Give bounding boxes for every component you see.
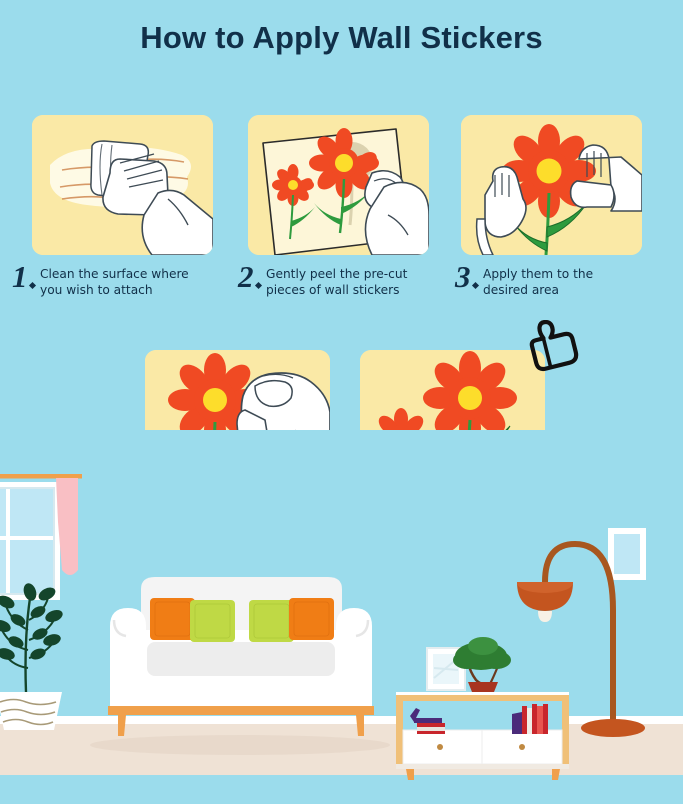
step-bullet-3 [472, 282, 479, 289]
step-panel-3 [461, 115, 642, 255]
step-panel-2 [248, 115, 429, 255]
page-title: How to Apply Wall Stickers [0, 20, 683, 56]
infographic-canvas: How to Apply Wall Stickers 1 [0, 0, 683, 800]
step-text-3: Apply them to the desired area [483, 262, 593, 298]
step-caption-2: 2 Gently peel the pre-cut pieces of wall… [238, 262, 453, 298]
step-caption-3: 3 Apply them to the desired area [455, 262, 670, 298]
step-number-2: 2 [238, 262, 253, 291]
step-number-3: 3 [455, 262, 470, 291]
step-bullet-2 [255, 282, 262, 289]
step-panel-1 [32, 115, 213, 255]
step-bullet-1 [29, 282, 36, 289]
thumbs-up-icon [519, 320, 581, 376]
step-text-1: Clean the surface where you wish to atta… [40, 262, 189, 298]
room-scene [0, 430, 683, 800]
step-number-1: 1 [12, 262, 27, 291]
step-caption-1: 1 Clean the surface where you wish to at… [12, 262, 227, 298]
wall-picture-frame [608, 528, 646, 580]
step-text-2: Gently peel the pre-cut pieces of wall s… [266, 262, 407, 298]
